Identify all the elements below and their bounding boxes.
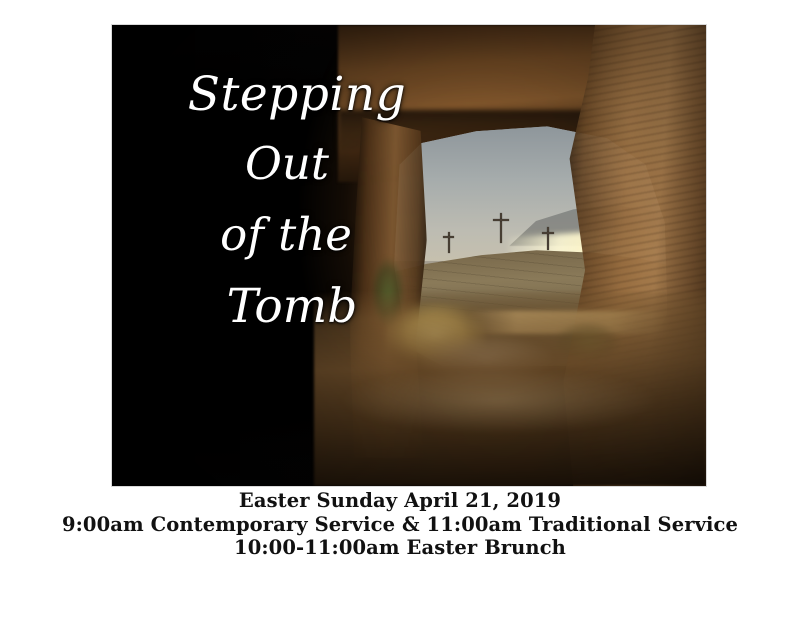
- left-cross-icon: [443, 232, 454, 253]
- caption-line-brunch: 10:00-11:00am Easter Brunch: [0, 536, 800, 560]
- service-details-caption: Easter Sunday April 21, 2019 9:00am Cont…: [0, 489, 800, 560]
- empty-tomb-photo: Stepping Out of the Tomb: [112, 25, 706, 486]
- tomb-floor: [314, 292, 706, 486]
- cross-horizontal-beam: [493, 219, 509, 221]
- cross-vertical-beam: [500, 213, 502, 243]
- cross-horizontal-beam: [542, 232, 554, 234]
- cross-vertical-beam: [547, 227, 549, 250]
- caption-line-date: Easter Sunday April 21, 2019: [0, 489, 800, 513]
- center-cross-icon: [493, 213, 509, 243]
- right-cross-icon: [542, 227, 554, 250]
- caption-line-services: 9:00am Contemporary Service & 11:00am Tr…: [0, 513, 800, 537]
- cross-horizontal-beam: [443, 236, 454, 238]
- easter-flyer: Stepping Out of the Tomb Easter Sunday A…: [0, 0, 800, 618]
- cross-vertical-beam: [448, 232, 450, 253]
